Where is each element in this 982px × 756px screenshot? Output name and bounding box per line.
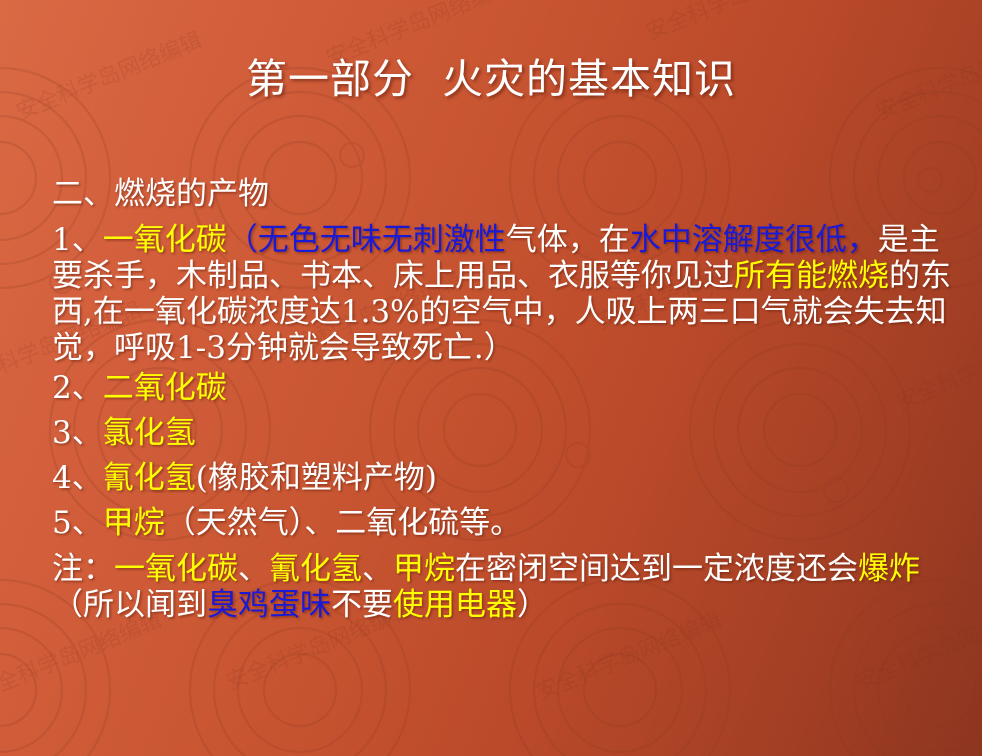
item5-note: （天然气）、二氧化硫等。 (165, 505, 522, 541)
item1-number: 1、 (52, 222, 103, 258)
item1-desc-yellow-1: 所有能 (734, 258, 827, 294)
presentation-slide: 安全科学岛网络编辑 安全科学岛网络编辑 安全科学岛网络编辑 安全科学岛网络编辑 … (0, 0, 982, 756)
note-text-3: 不要 (331, 587, 393, 623)
note-highlight-explode: 爆炸 (858, 551, 920, 587)
note-chem-3: 甲烷 (393, 551, 455, 587)
list-item-4: 4、氰化氢(橡胶和塑料产物) (52, 460, 954, 496)
item4-note: (橡胶和塑料产物) (196, 460, 437, 496)
item5-name: 甲烷 (103, 505, 165, 541)
item3-number: 3、 (52, 415, 103, 451)
item4-number: 4、 (52, 460, 103, 496)
item1-desc-white-1: 气体，在 (506, 222, 630, 258)
note-separator-2: 、 (362, 551, 393, 587)
note-text-1: 在密闭空间达到一定浓度还会 (455, 551, 858, 587)
item4-name: 氰化氢 (103, 460, 196, 496)
item5-number: 5、 (52, 505, 103, 541)
item2-number: 2、 (52, 370, 103, 406)
note-highlight-smell: 臭鸡蛋味 (207, 587, 331, 623)
note-chem-1: 一氧化碳 (114, 551, 238, 587)
list-item-1: 1、一氧化碳（无色无味无刺激性气体，在水中溶解度很低，是主要杀手，木制品、书本、… (52, 222, 954, 366)
item1-paren-open: （ (227, 222, 258, 258)
note-text-4: ） (517, 587, 548, 623)
item1-desc-blue-2: 水中溶解度很低， (630, 222, 878, 258)
list-item-3: 3、氯化氢 (52, 415, 954, 451)
item1-desc-yellow-2: 燃烧 (827, 258, 889, 294)
slide-body: 二、燃烧的产物 1、一氧化碳（无色无味无刺激性气体，在水中溶解度很低，是主要杀手… (52, 176, 954, 623)
note-chem-2: 氰化氢 (269, 551, 362, 587)
note-paragraph: 注：一氧化碳、氰化氢、甲烷在密闭空间达到一定浓度还会爆炸（所以闻到臭鸡蛋味不要使… (52, 551, 954, 623)
note-text-2: （所以闻到 (52, 587, 207, 623)
slide-content: 第一部分 火灾的基本知识 二、燃烧的产物 1、一氧化碳（无色无味无刺激性气体，在… (0, 0, 982, 756)
note-highlight-appliance: 使用电器 (393, 587, 517, 623)
list-item-2: 2、二氧化碳 (52, 370, 954, 406)
item1-desc-blue-1: 无色无味无刺激性 (258, 222, 506, 258)
section-heading: 二、燃烧的产物 (52, 176, 954, 212)
note-label: 注： (52, 551, 114, 587)
item3-name: 氯化氢 (103, 415, 196, 451)
item1-name: 一氧化碳 (103, 222, 227, 258)
slide-title: 第一部分 火灾的基本知识 (0, 56, 982, 103)
section-heading-text: 二、燃烧的产物 (52, 176, 269, 212)
list-item-5: 5、甲烷（天然气）、二氧化硫等。 (52, 505, 954, 541)
note-separator-1: 、 (238, 551, 269, 587)
item2-name: 二氧化碳 (103, 370, 227, 406)
